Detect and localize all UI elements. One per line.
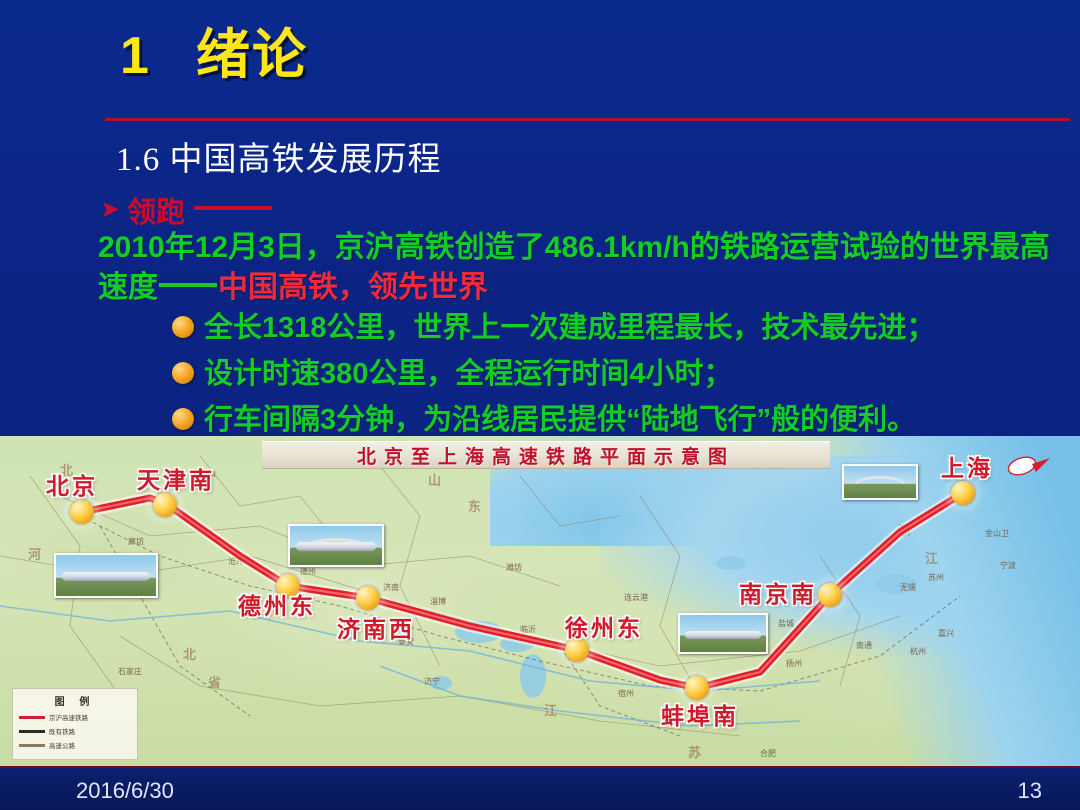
map-marker-icon: [1006, 452, 1052, 482]
legend-label: 既有铁路: [49, 726, 75, 736]
city-label-dezhoudong: 德州东: [238, 587, 316, 621]
slide-title: 1 绪论: [0, 14, 1080, 94]
legend-swatch-existing-rail: [19, 730, 45, 733]
station-dot-beijing[interactable]: [70, 500, 94, 524]
bullet-text: 行车间隔3分钟，为沿线居民提供“陆地飞行”般的便利。: [204, 400, 916, 440]
bullet-text: 全长1318公里，世界上一次建成里程最长，技术最先进；: [204, 308, 936, 348]
bullet-dot-icon: [172, 408, 194, 430]
footer-page-number: 13: [1018, 778, 1042, 804]
station-dot-tianjinnan[interactable]: [153, 493, 177, 517]
arrow-right-icon: ➤: [100, 198, 120, 222]
photo-train-shape: [685, 631, 761, 639]
photo-inset-railway-3: [678, 613, 768, 654]
list-item: 全长1318公里，世界上一次建成里程最长，技术最先进；: [172, 308, 1072, 348]
photo-inset-railway-1: [54, 553, 158, 598]
city-label-shanghai: 上海: [941, 449, 993, 483]
legend-item: 既有铁路: [13, 726, 137, 736]
legend-label: 高速公路: [49, 740, 75, 750]
bullet-dot-icon: [172, 316, 194, 338]
footer-date: 2016/6/30: [76, 778, 174, 804]
photo-train-shape: [62, 572, 150, 581]
legend-swatch-hsr-line: [19, 716, 45, 719]
section-bullet-heading: ➤ 领跑: [100, 189, 272, 231]
city-label-bengbunan: 蚌埠南: [661, 697, 739, 731]
feature-bullet-list: 全长1318公里，世界上一次建成里程最长，技术最先进； 设计时速380公里，全程…: [172, 308, 1072, 446]
section-subheading: 1.6 中国高铁发展历程: [116, 132, 442, 180]
title-number: 1: [120, 30, 149, 82]
paragraph-red-text: 中国高铁，领先世界: [218, 271, 488, 304]
heading-dash-rule: [194, 206, 272, 210]
city-label-nanjingnan: 南京南: [739, 575, 817, 609]
intro-paragraph: 2010年12月3日，京沪高铁创造了486.1km/h的铁路运营试验的世界最高速…: [98, 228, 1073, 307]
slide-root: 1 绪论 1.6 中国高铁发展历程 ➤ 领跑 2010年12月3日，京沪高铁创造…: [0, 0, 1080, 810]
paragraph-dash-rule: [159, 283, 217, 287]
list-item: 设计时速380公里，全程运行时间4小时；: [172, 354, 1072, 394]
city-label-tianjinnan: 天津南: [137, 461, 215, 495]
station-dot-nanjingnan[interactable]: [818, 583, 842, 607]
city-label-jinanxi: 济南西: [337, 610, 415, 644]
legend-item: 高速公路: [13, 740, 137, 750]
bullet-dot-icon: [172, 362, 194, 384]
photo-inset-railway-4: [842, 464, 918, 500]
legend-label: 京沪高速铁路: [49, 712, 88, 722]
photo-train-shape: [296, 542, 377, 551]
legend-item: 京沪高速铁路: [13, 712, 137, 722]
title-divider: [105, 118, 1070, 121]
bullet-text: 设计时速380公里，全程运行时间4小时；: [204, 354, 733, 394]
section-bullet-label: 领跑: [127, 189, 185, 231]
list-item: 行车间隔3分钟，为沿线居民提供“陆地飞行”般的便利。: [172, 400, 1072, 440]
legend-title: 图 例: [13, 693, 137, 708]
photo-inset-railway-2: [288, 524, 384, 567]
title-text: 绪论: [196, 28, 308, 82]
station-dot-shanghai[interactable]: [951, 481, 975, 505]
city-label-beijing: 北京: [46, 467, 98, 501]
station-dot-jinanxi[interactable]: [356, 586, 380, 610]
legend-swatch-expressway: [19, 744, 45, 747]
city-label-xuzhoudong: 徐州东: [565, 609, 643, 643]
map-legend: 图 例 京沪高速铁路 既有铁路 高速公路: [12, 688, 138, 760]
slide-footer: 2016/6/30 13: [0, 766, 1080, 810]
